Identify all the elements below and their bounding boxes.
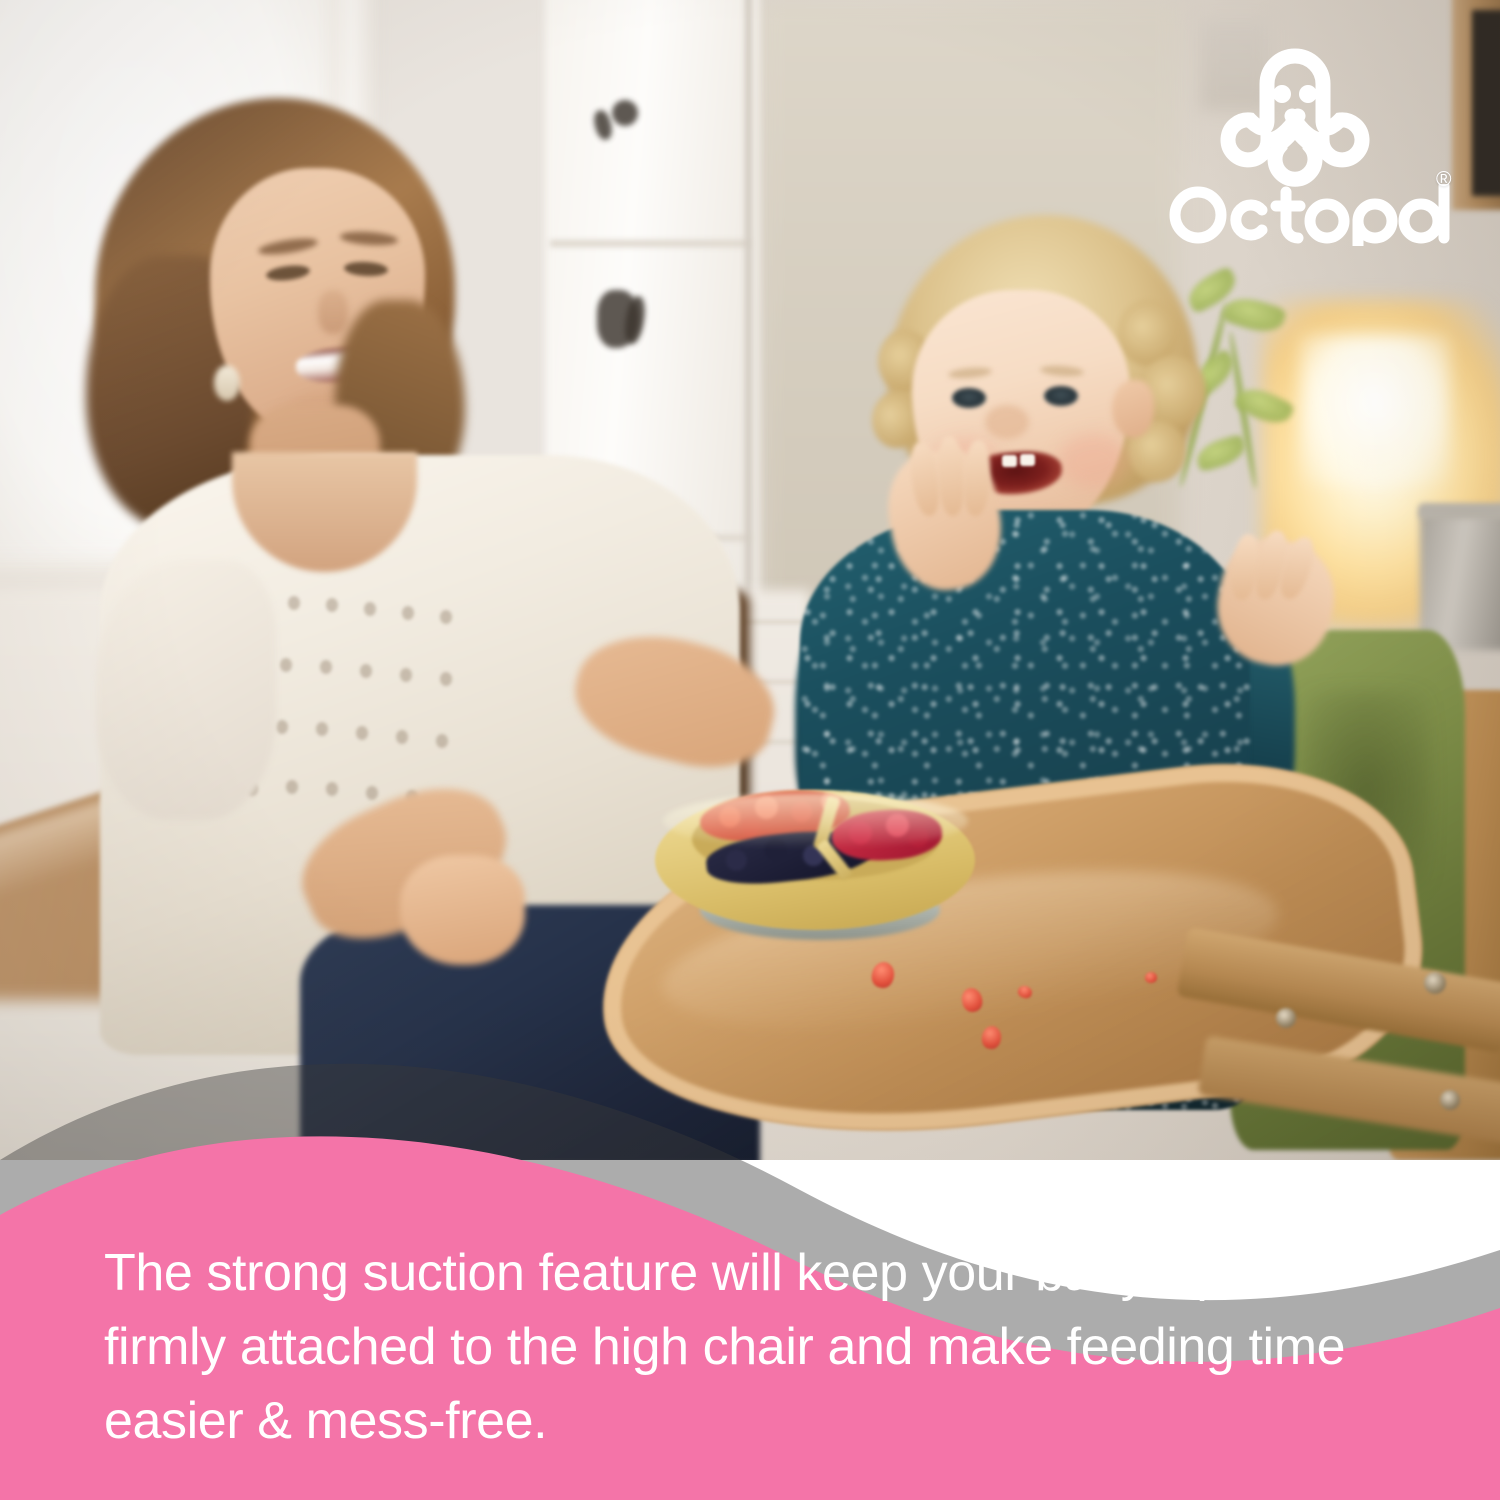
chair-screw	[1276, 1008, 1296, 1028]
brand-logo: ®	[1168, 42, 1468, 257]
mother-nose	[318, 290, 348, 334]
product-lifestyle-banner: The strong suction feature will keep you…	[0, 0, 1500, 1500]
registered-trademark-icon: ®	[1436, 168, 1451, 192]
plate-rim-highlight	[663, 793, 968, 849]
baby-eye	[952, 388, 986, 408]
octopus-icon	[1220, 42, 1370, 187]
picture-frame-inner	[1472, 10, 1500, 196]
metal-canister	[1420, 510, 1500, 650]
baby-ear	[1112, 380, 1154, 438]
brand-wordmark	[1168, 184, 1450, 246]
banner-caption: The strong suction feature will keep you…	[104, 1236, 1424, 1458]
table-lamp	[1300, 335, 1450, 485]
chair-screw	[1424, 972, 1446, 994]
cabinet-seam	[550, 240, 750, 247]
utensil-hook-icon	[612, 100, 638, 126]
baby-nose	[985, 405, 1029, 439]
mother-sleeve	[96, 560, 276, 820]
food-crumb	[1145, 972, 1157, 983]
baby-eye	[1044, 386, 1078, 406]
canister-lid	[1418, 503, 1500, 519]
mother-hand	[400, 855, 525, 965]
mother-earring	[214, 365, 240, 401]
